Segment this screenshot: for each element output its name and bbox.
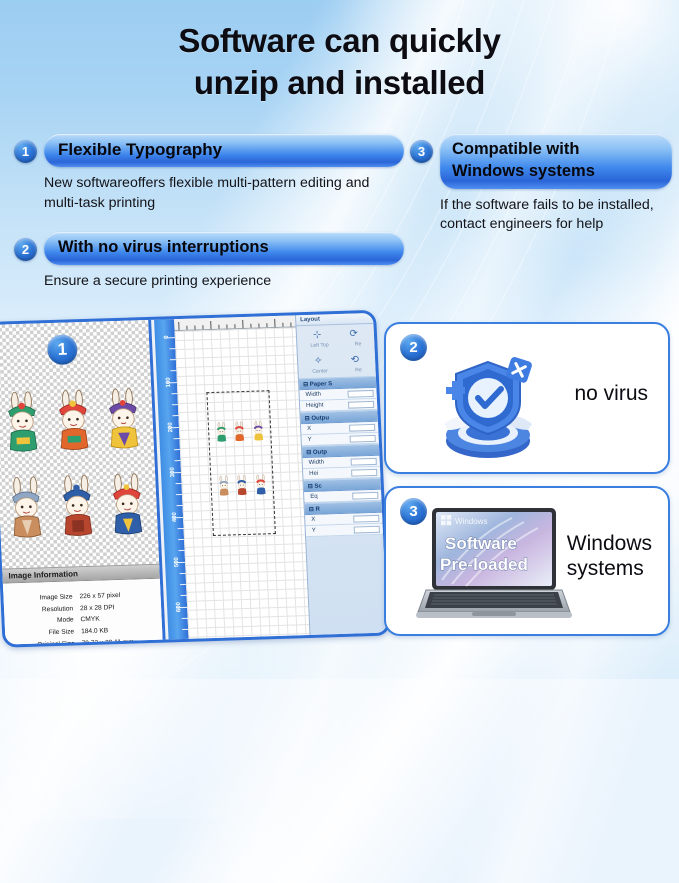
field-label: Y [312,528,316,534]
ruler-label: 200 [168,422,174,432]
no-virus-card[interactable]: 2 no virus [384,322,670,474]
ruler-label: 600 [176,602,182,612]
rotate-icon[interactable]: ⟳ [349,328,358,339]
feature-title-pill-2[interactable]: With no virus interruptions [44,232,404,265]
anchor-label-left-top: Left Top [310,342,329,349]
feature-title-pill-1[interactable]: Flexible Typography [44,134,404,167]
sticker-thumb-3 [97,375,150,460]
design-canvas[interactable] [175,327,310,638]
feature-body-3: If the software fails to be installed, c… [440,196,672,235]
reset-icon[interactable]: ⟲ [350,354,359,365]
anchor-label-re: Re [355,341,362,347]
poster-page: Software can quickly unzip and installed… [0,0,679,679]
field-input[interactable] [348,400,374,408]
ruler-label: 300 [170,467,176,477]
anchor-left-top-icon[interactable]: ⊹ [313,330,322,341]
canvas-sticker-5 [233,460,252,510]
windows-systems-label: Windows systems [567,532,652,582]
field-input[interactable] [353,514,379,522]
image-information-panel: Image Size 226 x 57 pixel Resolution 28 … [3,579,163,645]
anchor-label-center: Center [312,368,328,374]
field-label: X [307,426,311,432]
shield-check-illustration [424,338,552,466]
sticker-thumb-6 [101,461,154,546]
info-value: 79.73 x 20.11 mm [81,636,159,648]
field-label: X [311,517,315,523]
info-key: Original Size [5,638,82,648]
feature-title-line-2: Windows systems [452,161,660,183]
no-virus-label: no virus [574,382,648,407]
software-window-frame: 1 [0,310,391,648]
anchor-center-icon[interactable]: ✧ [314,356,323,367]
screen-brand-text: Windows [455,517,487,526]
anchor-label-re-2: Re [355,367,362,373]
image-preview-pane[interactable]: 1 [0,320,166,645]
laptop-illustration: Windows Software Pre-loaded [412,502,574,624]
sticker-thumb-4 [0,464,53,549]
screen-line-1: Software [445,534,517,553]
feature-header: 3 Compatible with Windows systems [410,134,672,189]
preview-sticker-grid [0,375,154,550]
feature-number-badge-1: 1 [14,140,37,163]
canvas-sticker-1 [212,406,231,456]
field-label: Height [306,402,324,409]
feature-body-2: Ensure a secure printing experience [44,272,404,292]
field-label: Hei [309,471,318,477]
canvas-sticker-6 [251,459,270,509]
feature-header: 1 Flexible Typography [14,134,404,167]
headline-line-1: Software can quickly [178,22,500,59]
feature-item-compatible-windows: 3 Compatible with Windows systems If the… [410,134,672,235]
headline-line-2: unzip and installed [0,62,679,104]
property-field-repeat-y[interactable]: Y [306,524,383,537]
windows-label-line-1: Windows [567,532,652,557]
card-number-badge-3: 3 [400,498,427,525]
feature-number-badge-3: 3 [410,140,433,163]
field-input[interactable] [349,423,375,431]
card-number-badge-2: 2 [400,334,427,361]
sticker-thumb-1 [0,378,49,463]
feature-number-badge-2: 2 [14,238,37,261]
feature-title-line-1: Compatible with [452,139,660,161]
screen-line-2: Pre-loaded [440,555,528,574]
sticker-thumb-5 [50,463,103,548]
field-label: Y [308,437,312,443]
page-title: Software can quickly unzip and installed [0,0,679,104]
canvas-sticker-grid[interactable] [212,405,270,511]
canvas-sticker-3 [249,405,268,455]
field-input[interactable] [350,434,376,442]
layout-properties-panel[interactable]: Layout ⊹ ⟳ Left Top Re ✧ ⟲ Center [295,313,387,635]
card-row: 1 [0,316,679,679]
field-input[interactable] [347,389,373,397]
ruler-label: 500 [174,557,180,567]
software-screenshot-card[interactable]: 1 [0,310,391,648]
sticker-thumb-2 [46,377,99,462]
ruler-label: 100 [166,377,172,387]
field-label: Width [306,392,322,398]
field-label: Eq [310,494,318,500]
field-label: Width [309,460,325,466]
canvas-sticker-2 [230,406,249,456]
field-input[interactable] [354,525,380,533]
field-input[interactable] [351,468,377,476]
ruler-label: 0 [164,335,170,339]
windows-label-line-2: systems [567,557,652,582]
feature-title-pill-3[interactable]: Compatible with Windows systems [440,134,672,189]
field-input[interactable] [352,491,378,499]
canvas-sticker-4 [214,460,233,510]
windows-systems-card[interactable]: 3 [384,486,670,636]
field-input[interactable] [351,457,377,465]
feature-body-1: New softwareoffers flexible multi-patter… [44,174,404,213]
feature-item-flexible-typography: 1 Flexible Typography New softwareoffers… [14,134,404,214]
feature-list: 1 Flexible Typography New softwareoffers… [0,128,679,310]
ruler-label: 400 [172,512,178,522]
feature-item-no-virus-interruptions: 2 With no virus interruptions Ensure a s… [14,232,404,291]
feature-header: 2 With no virus interruptions [14,232,404,265]
